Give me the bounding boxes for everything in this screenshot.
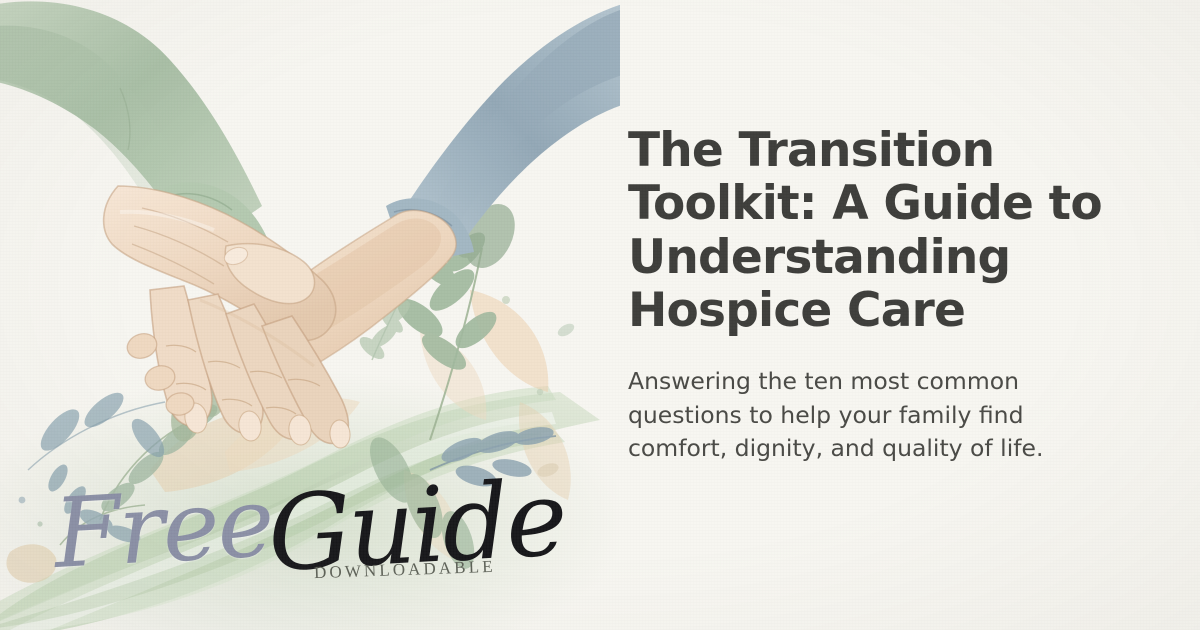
badge-script-free: Free — [51, 474, 274, 582]
poster-canvas: Free Guide DOWNLOADABLE The Transition T… — [0, 0, 1200, 630]
free-guide-badge: Free Guide DOWNLOADABLE — [46, 474, 526, 599]
page-title: The Transition Toolkit: A Guide to Under… — [628, 124, 1148, 337]
page-subtitle: Answering the ten most common questions … — [628, 365, 1048, 465]
text-block: The Transition Toolkit: A Guide to Under… — [628, 124, 1158, 465]
